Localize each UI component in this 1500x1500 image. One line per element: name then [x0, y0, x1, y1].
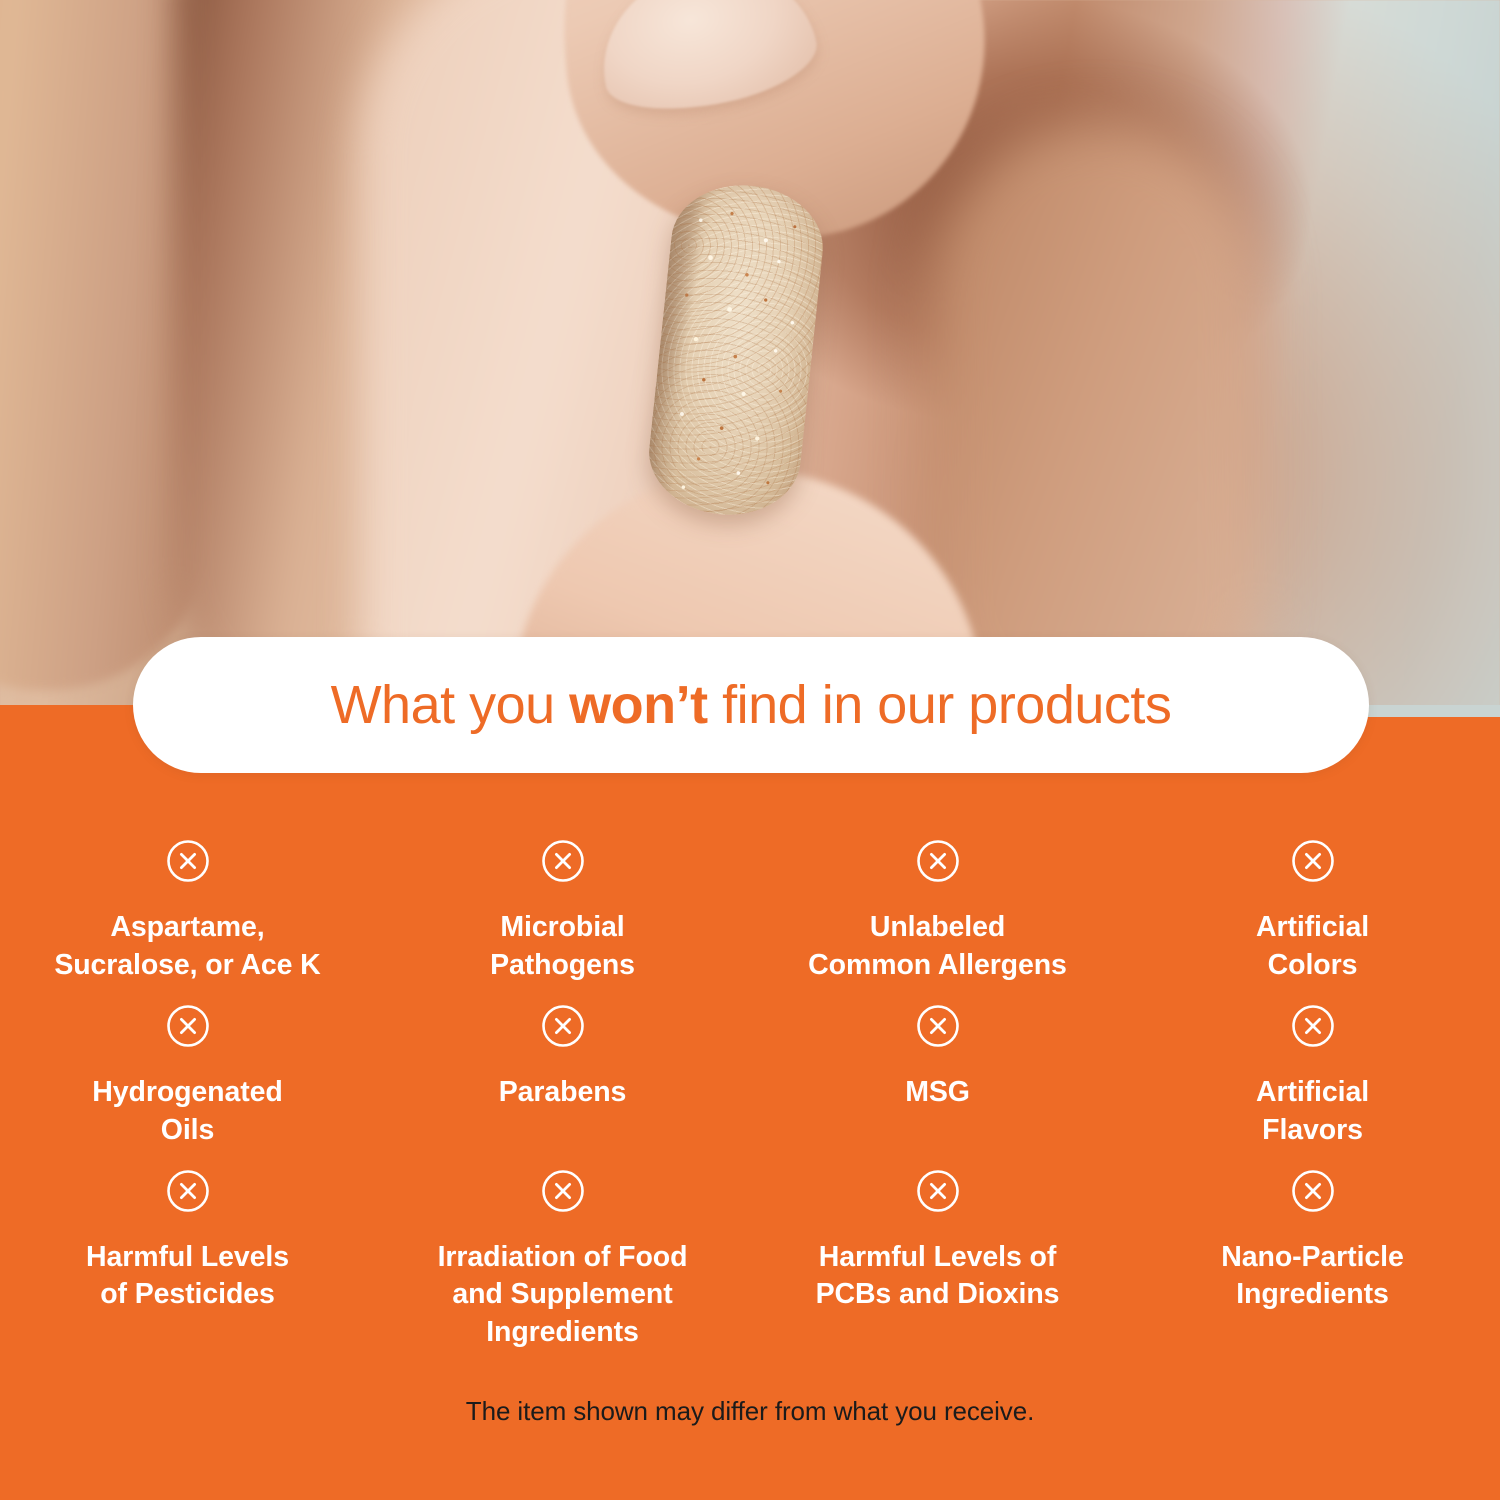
- grid-item: Microbial Pathogens: [375, 820, 750, 985]
- grid-item: Parabens: [375, 985, 750, 1150]
- disclaimer-note: The item shown may differ from what you …: [0, 1396, 1500, 1427]
- excluded-ingredients-grid: Aspartame, Sucralose, or Ace K Microbial…: [0, 820, 1500, 1352]
- circle-x-icon: [915, 1168, 961, 1214]
- grid-item-label: Artificial Flavors: [1256, 1074, 1369, 1150]
- grid-item: MSG: [750, 985, 1125, 1150]
- grid-item-label: MSG: [905, 1074, 970, 1112]
- circle-x-icon: [165, 1003, 211, 1049]
- grid-item-label: Harmful Levels of PCBs and Dioxins: [816, 1239, 1060, 1315]
- grid-item-label: Artificial Colors: [1256, 909, 1369, 985]
- circle-x-icon: [165, 1168, 211, 1214]
- page-title: What you won’t find in our products: [331, 678, 1172, 732]
- grid-item: Unlabeled Common Allergens: [750, 820, 1125, 985]
- grid-item-label: Unlabeled Common Allergens: [808, 909, 1067, 985]
- circle-x-icon: [1290, 838, 1336, 884]
- page-title-part-2: find in our products: [708, 675, 1172, 735]
- grid-item-label: Hydrogenated Oils: [92, 1074, 282, 1150]
- product-claims-infographic: What you won’t find in our products Aspa…: [0, 0, 1500, 1500]
- grid-item-label: Parabens: [499, 1074, 627, 1112]
- circle-x-icon: [1290, 1003, 1336, 1049]
- grid-item: Hydrogenated Oils: [0, 985, 375, 1150]
- page-title-emphasis: won’t: [569, 675, 707, 735]
- grid-item: Nano-Particle Ingredients: [1125, 1150, 1500, 1353]
- grid-item: Aspartame, Sucralose, or Ace K: [0, 820, 375, 985]
- grid-item: Irradiation of Food and Supplement Ingre…: [375, 1150, 750, 1353]
- title-card: What you won’t find in our products: [133, 637, 1369, 773]
- circle-x-icon: [540, 1168, 586, 1214]
- grid-item-label: Microbial Pathogens: [490, 909, 635, 985]
- grid-item: Artificial Flavors: [1125, 985, 1500, 1150]
- grid-item: Harmful Levels of PCBs and Dioxins: [750, 1150, 1125, 1353]
- page-title-part-1: What you: [331, 675, 570, 735]
- hand-holding-tablet-photo: [0, 0, 1500, 722]
- circle-x-icon: [165, 838, 211, 884]
- grid-item-label: Irradiation of Food and Supplement Ingre…: [438, 1239, 688, 1353]
- circle-x-icon: [540, 1003, 586, 1049]
- grid-item-label: Aspartame, Sucralose, or Ace K: [54, 909, 320, 985]
- grid-item-label: Nano-Particle Ingredients: [1221, 1239, 1403, 1315]
- circle-x-icon: [540, 838, 586, 884]
- circle-x-icon: [1290, 1168, 1336, 1214]
- grid-item-label: Harmful Levels of Pesticides: [86, 1239, 289, 1315]
- grid-item: Artificial Colors: [1125, 820, 1500, 985]
- finger-shape-background-right: [930, 120, 1260, 722]
- circle-x-icon: [915, 1003, 961, 1049]
- grid-item: Harmful Levels of Pesticides: [0, 1150, 375, 1353]
- circle-x-icon: [915, 838, 961, 884]
